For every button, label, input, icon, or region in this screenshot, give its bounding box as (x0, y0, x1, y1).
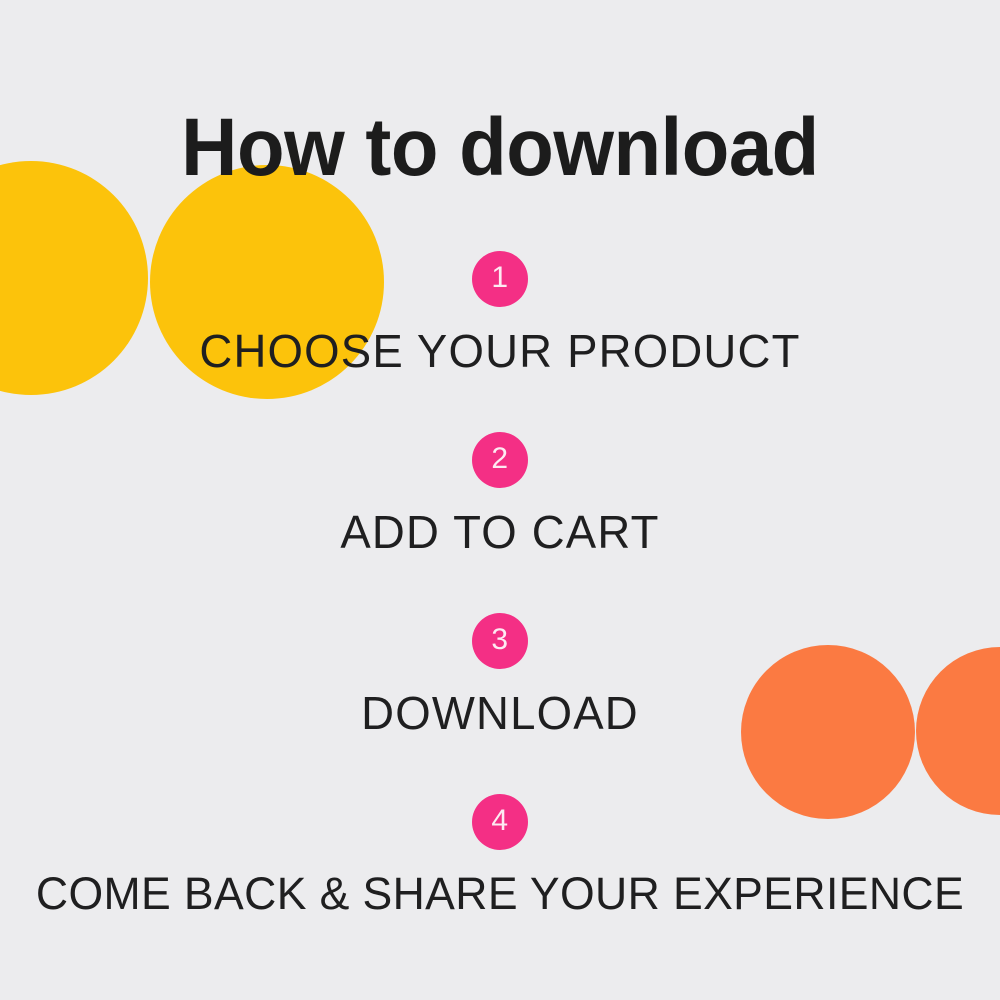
step-item-4: 4 COME BACK & SHARE YOUR EXPERIENCE (0, 794, 1000, 975)
step-badge-3: 3 (472, 613, 528, 669)
how-to-download-poster: How to download 1 CHOOSE YOUR PRODUCT 2 … (0, 0, 1000, 1000)
steps-list: 1 CHOOSE YOUR PRODUCT 2 ADD TO CART 3 DO… (0, 251, 1000, 975)
step-item-3: 3 DOWNLOAD (0, 613, 1000, 794)
step-label-4: COME BACK & SHARE YOUR EXPERIENCE (5, 870, 995, 917)
step-label-3: DOWNLOAD (5, 689, 995, 737)
step-number-1: 1 (491, 263, 508, 293)
step-number-3: 3 (491, 625, 508, 655)
step-item-1: 1 CHOOSE YOUR PRODUCT (0, 251, 1000, 432)
step-label-1: CHOOSE YOUR PRODUCT (5, 327, 995, 375)
step-badge-4: 4 (472, 794, 528, 850)
step-item-2: 2 ADD TO CART (0, 432, 1000, 613)
step-number-2: 2 (491, 444, 508, 474)
step-label-2: ADD TO CART (5, 508, 995, 556)
step-badge-2: 2 (472, 432, 528, 488)
page-title: How to download (25, 107, 975, 189)
step-badge-1: 1 (472, 251, 528, 307)
step-number-4: 4 (491, 806, 508, 836)
